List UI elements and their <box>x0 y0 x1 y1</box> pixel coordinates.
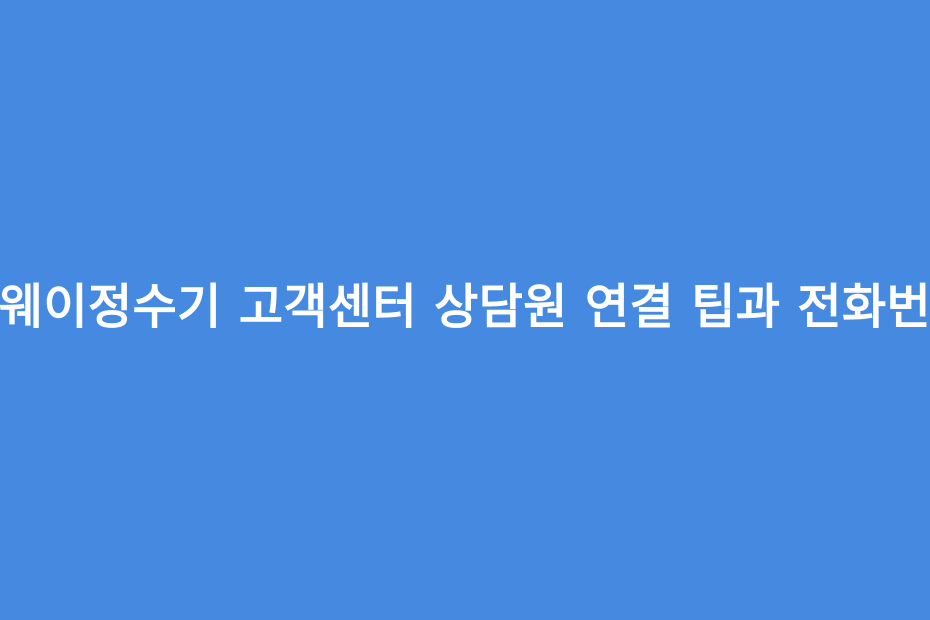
headline-row: 코웨이정수기 고객센터 상담원 연결 팁과 전화번호 <box>0 0 930 620</box>
page-title: 코웨이정수기 고객센터 상담원 연결 팁과 전화번호 <box>0 283 930 331</box>
title-card: 코웨이정수기 고객센터 상담원 연결 팁과 전화번호 <box>0 0 930 620</box>
